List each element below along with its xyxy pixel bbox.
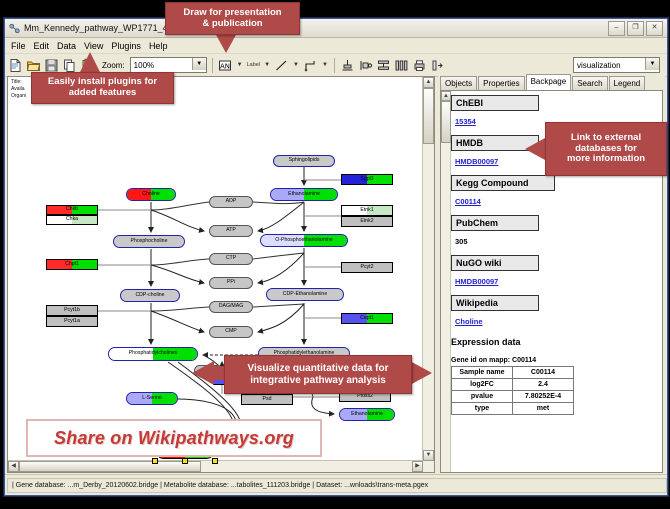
scroll-right-arrow[interactable]: ▶ [412, 461, 423, 472]
table-row: log2FC 2.4 [452, 379, 574, 391]
visualization-value: visualization [577, 61, 621, 70]
node-label: O-Phosphoethanolamine [275, 238, 332, 243]
node-pcyt1a[interactable]: Pcyt1a [46, 316, 98, 327]
hmdb-link[interactable]: HMDB00097 [455, 157, 498, 166]
maximize-button[interactable]: ❐ [627, 21, 644, 36]
cell-key: pvalue [452, 391, 513, 403]
node-label: DAG/MAG [219, 304, 244, 309]
draw-callout: Draw for presentation & publication [165, 2, 300, 35]
menu-item-data[interactable]: Data [54, 41, 81, 51]
node-atp[interactable]: ATP [209, 225, 253, 237]
stack-icon[interactable] [376, 58, 391, 73]
tab-properties[interactable]: Properties [478, 76, 524, 90]
node-label: Etnk1 [360, 208, 373, 213]
tab-legend[interactable]: Legend [609, 76, 646, 90]
scroll-up-arrow[interactable]: ▲ [423, 77, 434, 88]
node-label: ATP [226, 228, 236, 233]
zoom-select[interactable]: 100% ▼ [130, 57, 207, 73]
node-chkb[interactable]: Chkb [46, 205, 98, 215]
group-icon[interactable] [358, 58, 373, 73]
menu-item-file[interactable]: File [8, 41, 31, 51]
line-tool-icon[interactable] [274, 58, 289, 73]
node-label: Cept1 [360, 316, 374, 321]
node-label: Etnk2 [360, 219, 373, 224]
cell-value: met [513, 403, 574, 415]
node-cdp-ethanolamine[interactable]: CDP-Ethanolamine [266, 288, 344, 301]
copy-icon[interactable] [62, 58, 77, 73]
node-label: Pcyt2 [361, 265, 374, 270]
minimize-button[interactable]: – [608, 21, 625, 36]
window-controls: – ❐ ✕ [608, 21, 663, 36]
section-header-wikipedia: Wikipedia [451, 295, 539, 311]
node-label: CTP [226, 256, 236, 261]
node-etnk2[interactable]: Etnk2 [341, 216, 393, 227]
nugo-wiki-link[interactable]: HMDB00097 [455, 277, 498, 286]
node-label: Pcyt1a [64, 319, 80, 324]
share-banner-text: Share on Wikipathways.org [54, 428, 294, 449]
selection-handle[interactable] [212, 458, 218, 464]
new-file-icon[interactable] [8, 58, 23, 73]
kegg-compound-link[interactable]: C00114 [455, 197, 481, 206]
node-etnk1[interactable]: Etnk1 [341, 205, 393, 216]
links-callout: Link to external databases for more info… [545, 122, 667, 176]
table-row: pvalue 7.80252E-4 [452, 391, 574, 403]
chevron-down-icon[interactable]: ▼ [322, 62, 328, 68]
node-phosphocholine[interactable]: Phosphocholine [113, 235, 185, 248]
toolbar-separator [212, 58, 213, 73]
pathvisio-icon [9, 23, 20, 34]
node-label: Chkb [66, 207, 78, 212]
visualize-callout-line2: integrative pathway analysis [250, 375, 386, 387]
save-disk-icon[interactable] [44, 58, 59, 73]
status-bar: | Gene database: ...m_Derby_20120602.bri… [5, 474, 667, 495]
menu-item-plugins[interactable]: Plugins [108, 41, 146, 51]
node-label: Psd [263, 397, 272, 402]
section-header-pubchem: PubChem [451, 215, 539, 231]
links-callout-line1: Link to external [571, 133, 641, 144]
wikipedia-link[interactable]: Choline [455, 317, 483, 326]
node-label: ADP [226, 199, 237, 204]
node-label: Sphingolipids [289, 158, 320, 163]
node-sphingolipids[interactable]: Sphingolipids [273, 155, 335, 167]
share-banner: Share on Wikipathways.org [26, 419, 322, 457]
canvas-vertical-scrollbar[interactable]: ▲ ▼ [422, 77, 434, 472]
print-icon[interactable] [412, 58, 427, 73]
expression-data-heading: Expression data [451, 337, 650, 347]
cell-key: log2FC [452, 379, 513, 391]
node-ethanolamine-bottom[interactable]: Ethanolamine [339, 408, 395, 421]
draw-callout-line1: Draw for presentation [183, 8, 281, 19]
plugins-callout-line2: added features [69, 88, 137, 99]
align-icon[interactable] [340, 58, 355, 73]
node-ppi[interactable]: PPi [209, 277, 253, 289]
node-label: Pcyt1b [64, 308, 80, 313]
draw-callout-line2: & publication [202, 19, 262, 30]
layer-icon[interactable] [430, 58, 445, 73]
section-header-nugo-wiki: NuGO wiki [451, 255, 539, 271]
node-ctp[interactable]: CTP [209, 253, 253, 265]
tab-backpage[interactable]: Backpage [526, 74, 572, 90]
chevron-down-icon[interactable]: ▼ [264, 62, 270, 68]
scroll-down-arrow[interactable]: ▼ [423, 450, 434, 461]
visualization-select[interactable]: visualization ▼ [573, 57, 660, 73]
chevron-down-icon[interactable]: ▼ [237, 62, 243, 68]
backpage-scroll-thumb[interactable] [441, 101, 451, 143]
node-o-phosphoethanolamine[interactable]: O-Phosphoethanolamine [260, 234, 348, 247]
expression-table: Sample name C00114 log2FC 2.4 pvalue 7.8… [451, 366, 574, 415]
cell-value: 2.4 [513, 379, 574, 391]
table-row: Sample name C00114 [452, 367, 574, 379]
close-button[interactable]: ✕ [646, 21, 663, 36]
table-row: type met [452, 403, 574, 415]
node-label: CMP [225, 329, 237, 334]
cell-key: type [452, 403, 513, 415]
node-dag-mag[interactable]: DAG/MAG [209, 301, 253, 313]
open-folder-icon[interactable] [26, 58, 41, 73]
label-tool-label: Label [247, 62, 260, 68]
text-label-icon[interactable]: AN [218, 58, 233, 73]
node-label: PPi [227, 280, 235, 285]
plugins-callout: Easily install plugins for added feature… [31, 72, 174, 104]
window-titlebar: Mm_Kennedy_pathway_WP1771_45176.gpml – ❐… [5, 19, 667, 38]
node-adp[interactable]: ADP [209, 196, 253, 208]
node-cdp-choline[interactable]: CDP-choline [120, 289, 180, 302]
zoom-value: 100% [134, 61, 154, 70]
visualize-callout: Visualize quantitative data for integrat… [224, 355, 412, 394]
node-label: Chka [66, 217, 78, 222]
canvas-hscroll-thumb[interactable] [19, 461, 201, 472]
menu-item-help[interactable]: Help [146, 41, 173, 51]
visualize-callout-line1: Visualize quantitative data for [248, 363, 389, 375]
node-label: CDP-Ethanolamine [283, 292, 327, 297]
node-label: L-Serine [142, 396, 162, 401]
canvas-vscroll-thumb[interactable] [423, 88, 434, 144]
status-bar-text: | Gene database: ...m_Derby_20120602.bri… [7, 478, 667, 493]
scroll-up-arrow[interactable]: ▲ [441, 91, 451, 101]
visualize-callout-arrow-left [192, 361, 214, 385]
node-chka[interactable]: Chka [46, 215, 98, 225]
cell-key: Sample name [452, 367, 513, 379]
screenshot-root: Mm_Kennedy_pathway_WP1771_45176.gpml – ❐… [0, 0, 670, 509]
menu-item-edit[interactable]: Edit [31, 41, 55, 51]
selection-handle[interactable] [182, 458, 188, 464]
tab-search[interactable]: Search [572, 76, 607, 90]
node-label: Ptdss2 [357, 394, 373, 399]
cell-value: C00114 [513, 367, 574, 379]
node-l-serine-left[interactable]: L-Serine [126, 392, 178, 405]
node-sgpl1[interactable]: Sgpl1 [341, 174, 393, 185]
chevron-down-icon[interactable]: ▼ [293, 62, 299, 68]
node-label: Phosphatidylcholines [129, 351, 178, 356]
node-cmp[interactable]: CMP [209, 326, 253, 338]
scroll-left-arrow[interactable]: ◀ [8, 461, 19, 472]
tab-objects[interactable]: Objects [440, 76, 477, 90]
node-label: Chpt1 [65, 262, 79, 267]
menu-item-view[interactable]: View [81, 41, 108, 51]
node-chpt1[interactable]: Chpt1 [46, 259, 98, 270]
backpage-scrollbar[interactable]: ▲ [441, 91, 451, 472]
svg-text:AN: AN [220, 62, 230, 70]
pathway-canvas[interactable]: Title: Availa Organi [7, 76, 435, 473]
chevron-down-icon[interactable]: ▼ [645, 58, 659, 70]
node-cept1[interactable]: Cept1 [341, 313, 393, 324]
zoom-label: Zoom: [102, 61, 125, 70]
node-label: Ethanolamine [288, 192, 320, 197]
side-panel-tabs: Objects Properties Backpage Search Legen… [440, 76, 663, 90]
connector-tool-icon[interactable] [303, 58, 318, 73]
distribute-icon[interactable] [394, 58, 409, 73]
node-ethanolamine-top[interactable]: Ethanolamine [270, 188, 338, 201]
node-label: Choline [142, 192, 160, 197]
selection-handle[interactable] [152, 458, 158, 464]
node-label: Ethanolamine [351, 412, 383, 417]
node-label: CDP-choline [135, 293, 164, 298]
node-phosphatidylcholines[interactable]: Phosphatidylcholines [108, 347, 198, 361]
menu-bar: File Edit Data View Plugins Help [5, 38, 667, 54]
section-header-chebi: ChEBI [451, 95, 539, 111]
cell-value: 7.80252E-4 [513, 391, 574, 403]
node-label: Phosphocholine [131, 239, 168, 244]
chevron-down-icon[interactable]: ▼ [192, 58, 206, 70]
node-pcyt1b[interactable]: Pcyt1b [46, 305, 98, 316]
gene-id-line: Gene id on mapp: C00114 [451, 357, 650, 364]
pubchem-value: 305 [455, 237, 468, 246]
chebi-link[interactable]: 15354 [455, 117, 476, 126]
node-psd[interactable]: Psd [241, 394, 293, 405]
node-choline-top[interactable]: Choline [126, 188, 176, 201]
node-label: Sgpl1 [360, 177, 373, 182]
node-pcyt2[interactable]: Pcyt2 [341, 262, 393, 273]
links-callout-line3: more information [567, 154, 645, 165]
toolbar-separator [334, 58, 335, 73]
section-header-kegg-compound: Kegg Compound [451, 175, 555, 191]
